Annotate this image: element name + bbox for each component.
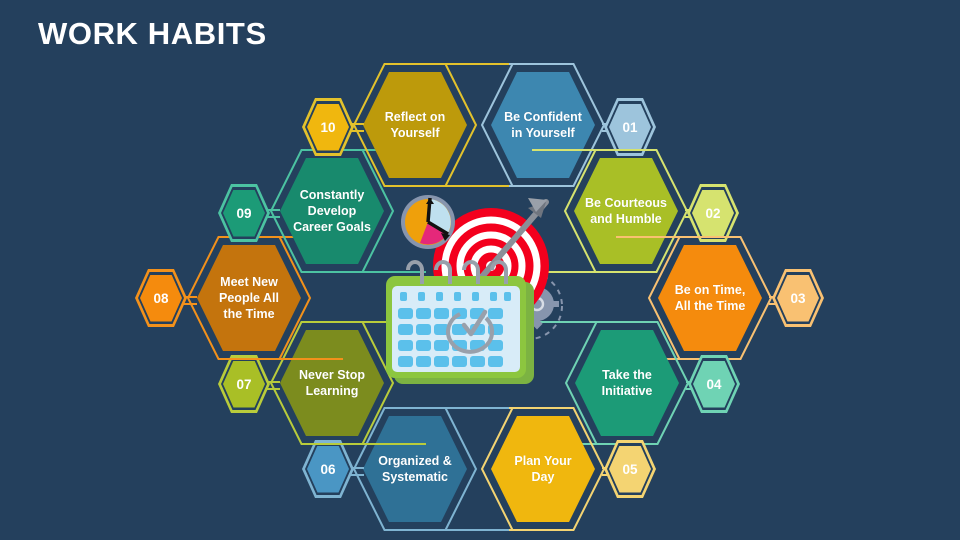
wall-calendar-icon — [386, 262, 534, 384]
hex-label-text: Be on Time,All the Time — [675, 282, 746, 314]
hex-label-text: Be Courteousand Humble — [585, 195, 667, 227]
hex-label-text: Take theInitiative — [602, 367, 653, 399]
hex-label-text: Plan YourDay — [514, 453, 571, 485]
page-title: WORK HABITS — [38, 16, 267, 52]
productivity-illustration — [378, 186, 584, 391]
hex-label-text: ConstantlyDevelopCareer Goals — [293, 187, 371, 235]
hex-label-text: Reflect onYourself — [385, 109, 445, 141]
slide-canvas: WORK HABITS — [0, 0, 960, 540]
hex-label-text: Organized &Systematic — [378, 453, 452, 485]
hex-label-text: Never StopLearning — [299, 367, 365, 399]
hex-label-text: Meet NewPeople Allthe Time — [219, 274, 279, 322]
pie-clock-icon — [401, 195, 455, 249]
